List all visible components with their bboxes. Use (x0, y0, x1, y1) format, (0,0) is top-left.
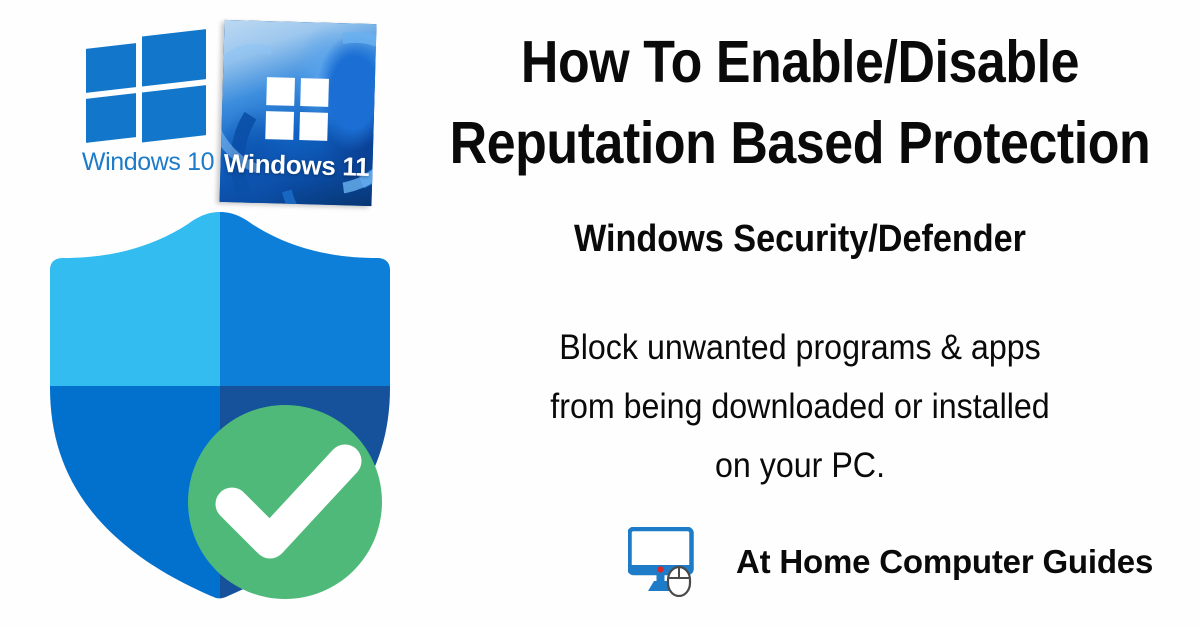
monitor-stand-neck (657, 574, 665, 582)
windows-11-badge: Windows 11 (219, 20, 376, 206)
windows-10-pane-2 (142, 29, 206, 86)
monitor-mouse-svg (628, 527, 710, 597)
brand-footer: At Home Computer Guides (628, 524, 1188, 600)
windows-11-pane-1 (266, 77, 295, 106)
windows-10-badge: Windows 10 (78, 30, 218, 190)
monitor-power-dot-icon (657, 566, 663, 572)
windows-10-logo-icon (86, 25, 206, 151)
page-description-line-3: on your PC. (432, 436, 1168, 495)
windows-11-wordmark: Windows 11 (220, 148, 373, 183)
shield-quadrant-top-left (42, 212, 220, 386)
page-title-line-2: Reputation Based Protection (448, 103, 1152, 184)
brand-name: At Home Computer Guides (736, 543, 1153, 581)
windows-security-shield-icon (42, 212, 402, 602)
shield-svg (42, 212, 402, 602)
right-text-column: How To Enable/Disable Reputation Based P… (400, 0, 1200, 628)
page-description-line-1: Block unwanted programs & apps (432, 318, 1168, 377)
windows-11-pane-3 (265, 111, 294, 140)
computer-mouse-icon (668, 567, 690, 596)
windows-10-wordmark: Windows 10 (78, 148, 218, 177)
green-check-badge-icon (188, 405, 382, 599)
desktop-monitor-with-mouse-icon (628, 527, 710, 597)
windows-10-pane-4 (142, 85, 206, 142)
left-graphics-column: Windows 10 Windows 11 (0, 0, 420, 628)
windows-10-pane-1 (86, 43, 136, 93)
poster-canvas: Windows 10 Windows 11 (0, 0, 1200, 628)
windows-11-pane-4 (299, 112, 328, 141)
page-title: How To Enable/Disable Reputation Based P… (448, 22, 1152, 184)
windows-11-pane-2 (300, 78, 329, 107)
page-title-line-1: How To Enable/Disable (448, 22, 1152, 103)
page-subtitle: Windows Security/Defender (440, 218, 1160, 261)
page-description: Block unwanted programs & apps from bein… (432, 318, 1168, 495)
windows-10-pane-3 (86, 93, 136, 143)
windows-11-logo-icon (265, 77, 329, 141)
page-description-line-2: from being downloaded or installed (432, 377, 1168, 436)
shield-quadrant-top-right (220, 212, 402, 386)
